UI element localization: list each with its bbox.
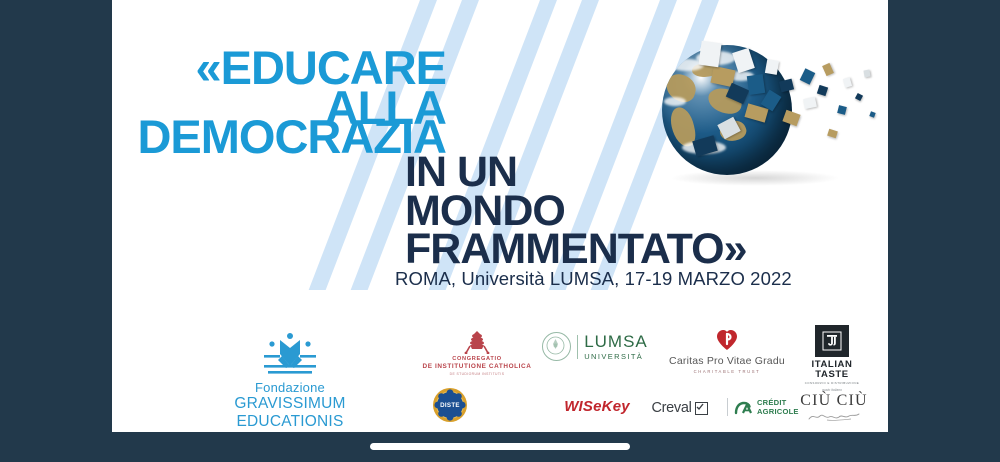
lumsa-name: LUMSA: [584, 333, 648, 350]
fondazione-label-line2: GRAVISSIMUM EDUCATIONIS: [190, 395, 390, 431]
caritas-name: Caritas Pro Vitae Gradu: [652, 355, 802, 367]
home-indicator-bar[interactable]: [370, 443, 630, 450]
lumsa-divider: [577, 335, 578, 359]
congregatio-line2: DE INSTITUTIONE CATHOLICA: [422, 363, 532, 370]
headline-line-3: DEMOCRAZIA: [137, 113, 446, 160]
logo-congregatio-de-institutione-catholica[interactable]: CONGREGATIO DE INSTITUTIONE CATHOLICA DE…: [422, 330, 532, 376]
creval-check-box-icon: [695, 402, 708, 415]
diste-inner-disc: DISTE: [437, 392, 463, 418]
congregatio-line1: CONGREGATIO: [422, 356, 532, 362]
headline-line-6: FRAMMENTATO»: [405, 228, 747, 271]
presentation-slide: «EDUCARE ALLA DEMOCRAZIA IN UN MONDO FRA…: [112, 0, 888, 432]
heart-icon: [715, 328, 739, 352]
logo-creval[interactable]: Creval: [632, 400, 727, 416]
lumsa-sub: UNIVERSITÀ: [584, 352, 648, 361]
papal-tiara-keys-icon: [464, 330, 490, 354]
logo-ciu-ciu[interactable]: CIÙ CIÙ: [784, 392, 884, 424]
logo-caritas-pro-vitae-gradu[interactable]: Caritas Pro Vitae Gradu CHARITABLE TRUST: [652, 328, 802, 374]
fondazione-label-line1: Fondazione: [190, 381, 390, 395]
italian-taste-monogram-icon: [815, 325, 849, 357]
ciu-ciu-name: CIÙ CIÙ: [784, 392, 884, 410]
ciu-ciu-signature-icon: [784, 411, 884, 424]
lumsa-seal-icon: [542, 332, 571, 361]
logo-diste[interactable]: DISTE: [430, 388, 470, 424]
italian-taste-name2: TASTE: [792, 370, 872, 380]
caritas-sub: CHARITABLE TRUST: [652, 369, 802, 374]
logo-lumsa-universita[interactable]: LUMSA UNIVERSITÀ: [530, 332, 660, 361]
logo-separator: [727, 398, 728, 416]
logo-fondazione-gravissimum-educationis[interactable]: Fondazione GRAVISSIMUM EDUCATIONIS: [190, 332, 390, 431]
book-sprout-icon: [256, 332, 324, 376]
italian-taste-sub: CONSORZIO E DISTRIBUZIONE: [792, 381, 872, 385]
sponsor-logos-area: Fondazione GRAVISSIMUM EDUCATIONIS: [112, 312, 888, 432]
event-subtitle: ROMA, Università LUMSA, 17-19 MARZO 2022: [395, 268, 792, 290]
congregatio-line3: DE STUDIORUM INSTITUTIS: [422, 372, 532, 376]
creval-name: Creval: [651, 400, 691, 416]
lumsa-text: LUMSA UNIVERSITÀ: [584, 333, 648, 361]
headline-block: «EDUCARE ALLA DEMOCRAZIA IN UN MONDO FRA…: [112, 0, 888, 300]
logo-italian-taste[interactable]: ITALIAN TASTE CONSORZIO E DISTRIBUZIONE …: [792, 325, 872, 392]
diste-name: DISTE: [440, 402, 460, 409]
device-frame: «EDUCARE ALLA DEMOCRAZIA IN UN MONDO FRA…: [0, 0, 1000, 462]
credit-agricole-ca-icon: [734, 401, 753, 415]
